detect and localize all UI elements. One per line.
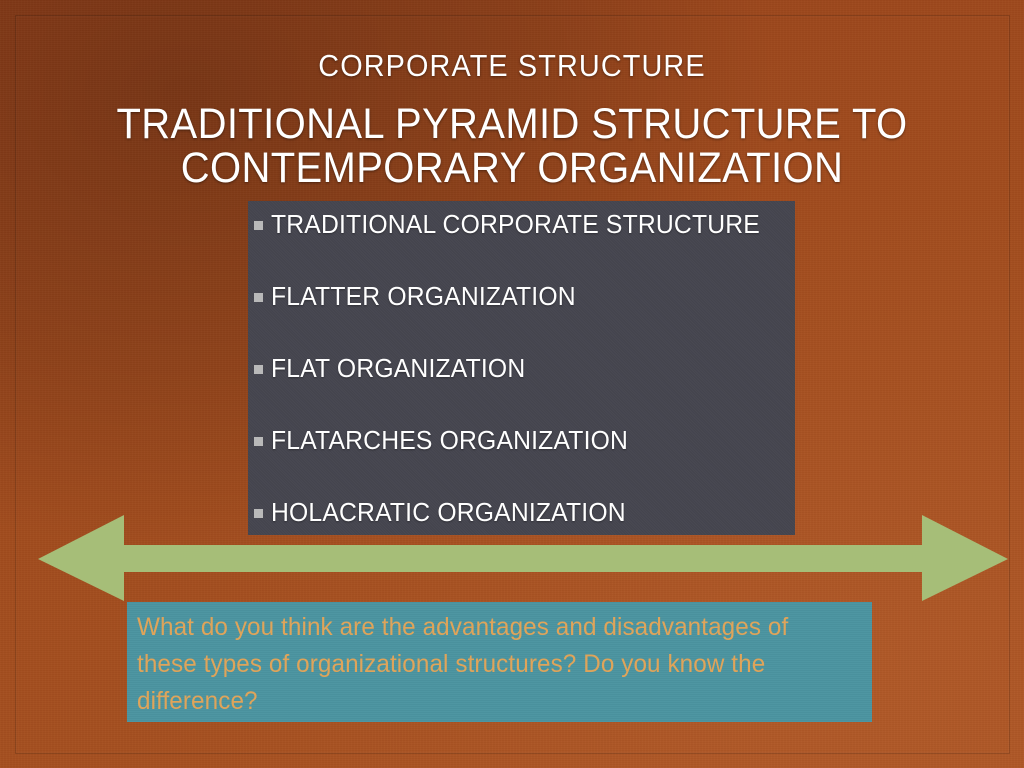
presentation-slide: CORPORATE STRUCTURE TRADITIONAL PYRAMID … — [0, 0, 1024, 768]
discussion-question-text: What do you think are the advantages and… — [137, 609, 835, 720]
bullet-list-panel: TRADITIONAL CORPORATE STRUCTURE FLATTER … — [248, 201, 795, 535]
list-item: TRADITIONAL CORPORATE STRUCTURE — [254, 207, 791, 241]
square-bullet-icon — [254, 365, 263, 374]
square-bullet-icon — [254, 221, 263, 230]
slide-title: TRADITIONAL PYRAMID STRUCTURE TO CONTEMP… — [36, 102, 988, 190]
square-bullet-icon — [254, 437, 263, 446]
slide-eyebrow-title: CORPORATE STRUCTURE — [36, 50, 988, 81]
list-item: FLATARCHES ORGANIZATION — [254, 423, 791, 457]
list-item-label: FLAT ORGANIZATION — [271, 355, 525, 381]
slide-title-line-1: TRADITIONAL PYRAMID STRUCTURE TO — [36, 102, 988, 146]
discussion-question-box: What do you think are the advantages and… — [127, 602, 872, 722]
list-item-label: FLATARCHES ORGANIZATION — [271, 427, 628, 453]
list-item-label: FLATTER ORGANIZATION — [271, 283, 576, 309]
square-bullet-icon — [254, 509, 263, 518]
list-item-label: HOLACRATIC ORGANIZATION — [271, 499, 626, 525]
slide-title-line-2: CONTEMPORARY ORGANIZATION — [36, 146, 988, 190]
list-item: HOLACRATIC ORGANIZATION — [254, 495, 791, 529]
square-bullet-icon — [254, 293, 263, 302]
list-item: FLATTER ORGANIZATION — [254, 279, 791, 313]
list-item: FLAT ORGANIZATION — [254, 351, 791, 385]
list-item-label: TRADITIONAL CORPORATE STRUCTURE — [271, 211, 760, 237]
